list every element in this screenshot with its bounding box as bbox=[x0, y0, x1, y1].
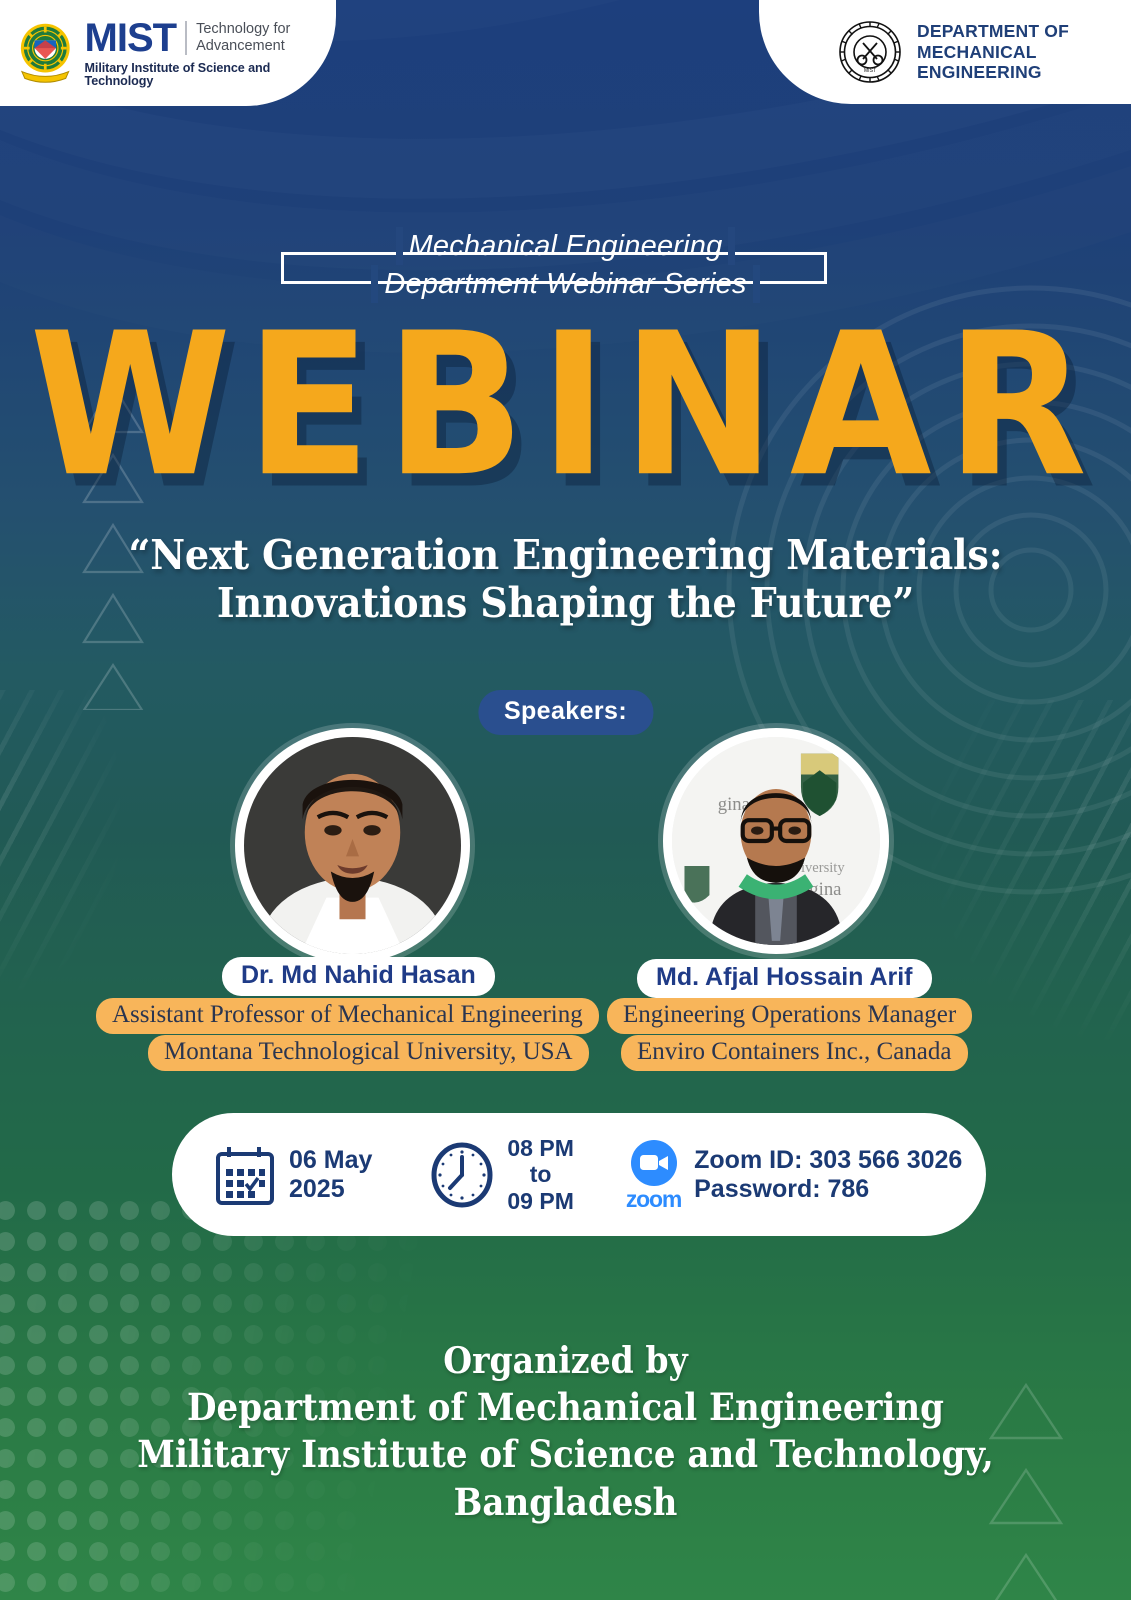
mist-logo-plate: MIST Technology for Advancement Military… bbox=[0, 0, 336, 106]
department-logo-plate: MIST DEPARTMENT OF MECHANICAL ENGINEERIN… bbox=[759, 0, 1131, 104]
series-line2: Department Webinar Series bbox=[378, 265, 752, 303]
zoom-wordmark: zoom bbox=[626, 1188, 681, 1211]
organized-by-label: Organized by bbox=[45, 1338, 1086, 1384]
organizer-department: Department of Mechanical Engineering bbox=[45, 1384, 1086, 1431]
webinar-topic: “Next Generation Engineering Materials: … bbox=[67, 531, 1063, 628]
logo-divider bbox=[185, 21, 187, 55]
topic-line1: “Next Generation Engineering Materials: bbox=[67, 531, 1063, 579]
mist-tagline-line1: Technology for bbox=[196, 21, 290, 39]
date-text: 06 May 2025 bbox=[289, 1146, 372, 1204]
department-line3: ENGINEERING bbox=[917, 62, 1069, 83]
date-line2: 2025 bbox=[289, 1175, 372, 1204]
organizer-block: Organized by Department of Mechanical En… bbox=[45, 1338, 1086, 1526]
clock-icon bbox=[430, 1142, 494, 1208]
date-line1: 06 May bbox=[289, 1146, 372, 1175]
mist-tagline: Technology for Advancement bbox=[196, 21, 290, 56]
speaker-2-name: Md. Afjal Hossain Arif bbox=[637, 959, 932, 998]
zoom-details: Zoom ID: 303 566 3026 Password: 786 bbox=[694, 1146, 962, 1204]
mist-crest-icon bbox=[16, 18, 75, 88]
mist-tagline-line2: Advancement bbox=[196, 38, 290, 56]
time-line3: 09 PM bbox=[507, 1188, 573, 1214]
background-diagonal-stripes-right bbox=[931, 700, 1131, 1040]
speaker-photo-2: gina iversity gina bbox=[663, 728, 889, 954]
speaker-1-portrait bbox=[244, 737, 461, 954]
department-line2: MECHANICAL bbox=[917, 42, 1069, 63]
webinar-poster: MIST Technology for Advancement Military… bbox=[0, 0, 1131, 1600]
background-diagonal-stripes-left bbox=[0, 690, 120, 990]
speaker-1-affiliation: Montana Technological University, USA bbox=[148, 1035, 589, 1071]
department-line1: DEPARTMENT OF bbox=[917, 21, 1069, 42]
series-line1: Mechanical Engineering bbox=[403, 227, 729, 265]
time-line2: to bbox=[507, 1161, 573, 1187]
speaker-2-affiliation: Enviro Containers Inc., Canada bbox=[621, 1035, 968, 1071]
event-info-bar: 06 May 2025 08 PM to bbox=[172, 1113, 986, 1236]
speaker-1-role: Assistant Professor of Mechanical Engine… bbox=[96, 998, 599, 1034]
speaker-1-name: Dr. Md Nahid Hasan bbox=[222, 957, 495, 996]
department-wordmark: DEPARTMENT OF MECHANICAL ENGINEERING bbox=[917, 21, 1069, 83]
speaker-photo-1 bbox=[235, 728, 470, 963]
time-text: 08 PM to 09 PM bbox=[507, 1135, 573, 1214]
date-info: 06 May 2025 bbox=[214, 1143, 372, 1207]
zoom-logo: zoom bbox=[626, 1139, 681, 1211]
platform-info: zoom Zoom ID: 303 566 3026 Password: 786 bbox=[626, 1139, 962, 1211]
zoom-password: Password: 786 bbox=[694, 1175, 962, 1204]
page-title: WEBINAR bbox=[0, 307, 1131, 504]
speaker-2-portrait: gina iversity gina bbox=[672, 737, 880, 945]
calendar-icon bbox=[214, 1143, 276, 1207]
speakers-label: Speakers: bbox=[478, 690, 653, 735]
speaker-2-role: Engineering Operations Manager bbox=[607, 998, 972, 1034]
time-info: 08 PM to 09 PM bbox=[430, 1135, 573, 1214]
svg-text:MIST: MIST bbox=[864, 68, 876, 74]
mechanical-gear-crest-icon: MIST bbox=[837, 19, 903, 85]
series-banner: Mechanical Engineering Department Webina… bbox=[0, 230, 1131, 300]
zoom-camera-icon bbox=[630, 1139, 678, 1187]
mist-acronym: MIST bbox=[85, 18, 177, 58]
topic-line2: Innovations Shaping the Future” bbox=[67, 579, 1063, 627]
time-line1: 08 PM bbox=[507, 1135, 573, 1161]
organizer-institute: Military Institute of Science and Techno… bbox=[45, 1431, 1086, 1526]
mist-full-name: Military Institute of Science and Techno… bbox=[85, 62, 336, 87]
svg-text:iversity: iversity bbox=[801, 860, 845, 876]
mist-wordmark: MIST Technology for Advancement Military… bbox=[85, 18, 336, 87]
zoom-id: Zoom ID: 303 566 3026 bbox=[694, 1146, 962, 1175]
